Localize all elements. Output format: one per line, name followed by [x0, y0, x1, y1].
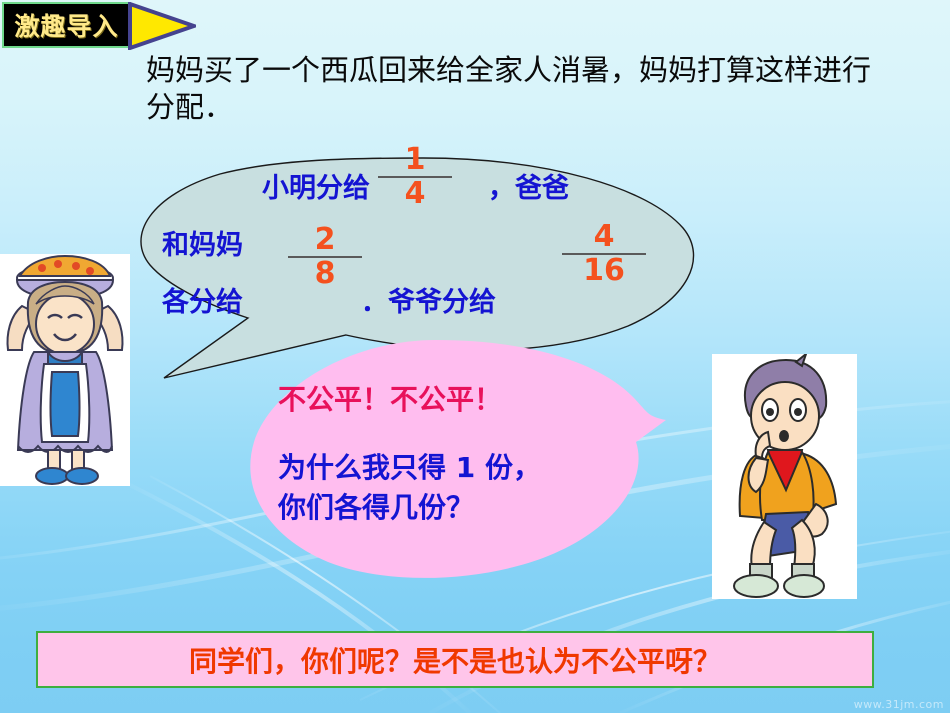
slide-canvas: 激趣导入 妈妈买了一个西瓜回来给全家人消暑，妈妈打算这样进行分配． 小明分给，爸…	[0, 0, 950, 713]
fraction-numerator: 4	[562, 222, 646, 252]
fraction-denominator: 16	[562, 256, 646, 286]
bottom-callout-text: 同学们，你们呢？是不是也认为不公平呀？	[189, 640, 721, 680]
pink-bubble-line-1: 不公平！不公平！	[278, 378, 658, 418]
fraction-numerator: 2	[288, 225, 362, 255]
watermark-text: www.31jm.com	[854, 698, 944, 711]
oval-bubble-line3-b: ．爷爷分给	[361, 287, 496, 318]
pink-bubble-line-3: 你们各得几份？	[278, 488, 658, 528]
section-tag-badge: 激趣导入	[2, 2, 131, 48]
pink-bubble-text: 不公平！不公平！ 为什么我只得 1 份， 你们各得几份？	[278, 378, 658, 528]
oval-bubble-line3-a: 各分给	[162, 287, 243, 318]
oval-bubble-line1-b: ，爸爸	[488, 173, 569, 204]
oval-bubble-line2-a: 和妈妈	[162, 230, 243, 261]
page-title: 妈妈买了一个西瓜回来给全家人消暑，妈妈打算这样进行分配．	[146, 52, 886, 126]
section-tag-label: 激趣导入	[14, 7, 118, 43]
fraction-grandpa: 4 16	[562, 222, 646, 286]
pink-bubble-line-2: 为什么我只得 1 份，	[278, 448, 658, 488]
fraction-denominator: 4	[378, 179, 452, 209]
fraction-parents: 2 8	[288, 225, 362, 289]
boy-illustration	[712, 354, 857, 599]
mother-illustration	[0, 254, 130, 486]
fraction-xiaoming: 1 4	[378, 145, 452, 209]
fraction-numerator: 1	[378, 145, 452, 175]
fraction-denominator: 8	[288, 259, 362, 289]
oval-bubble-line1-a: 小明分给	[262, 173, 370, 204]
bottom-callout-banner: 同学们，你们呢？是不是也认为不公平呀？	[36, 631, 874, 688]
right-triangle-icon	[128, 2, 196, 50]
